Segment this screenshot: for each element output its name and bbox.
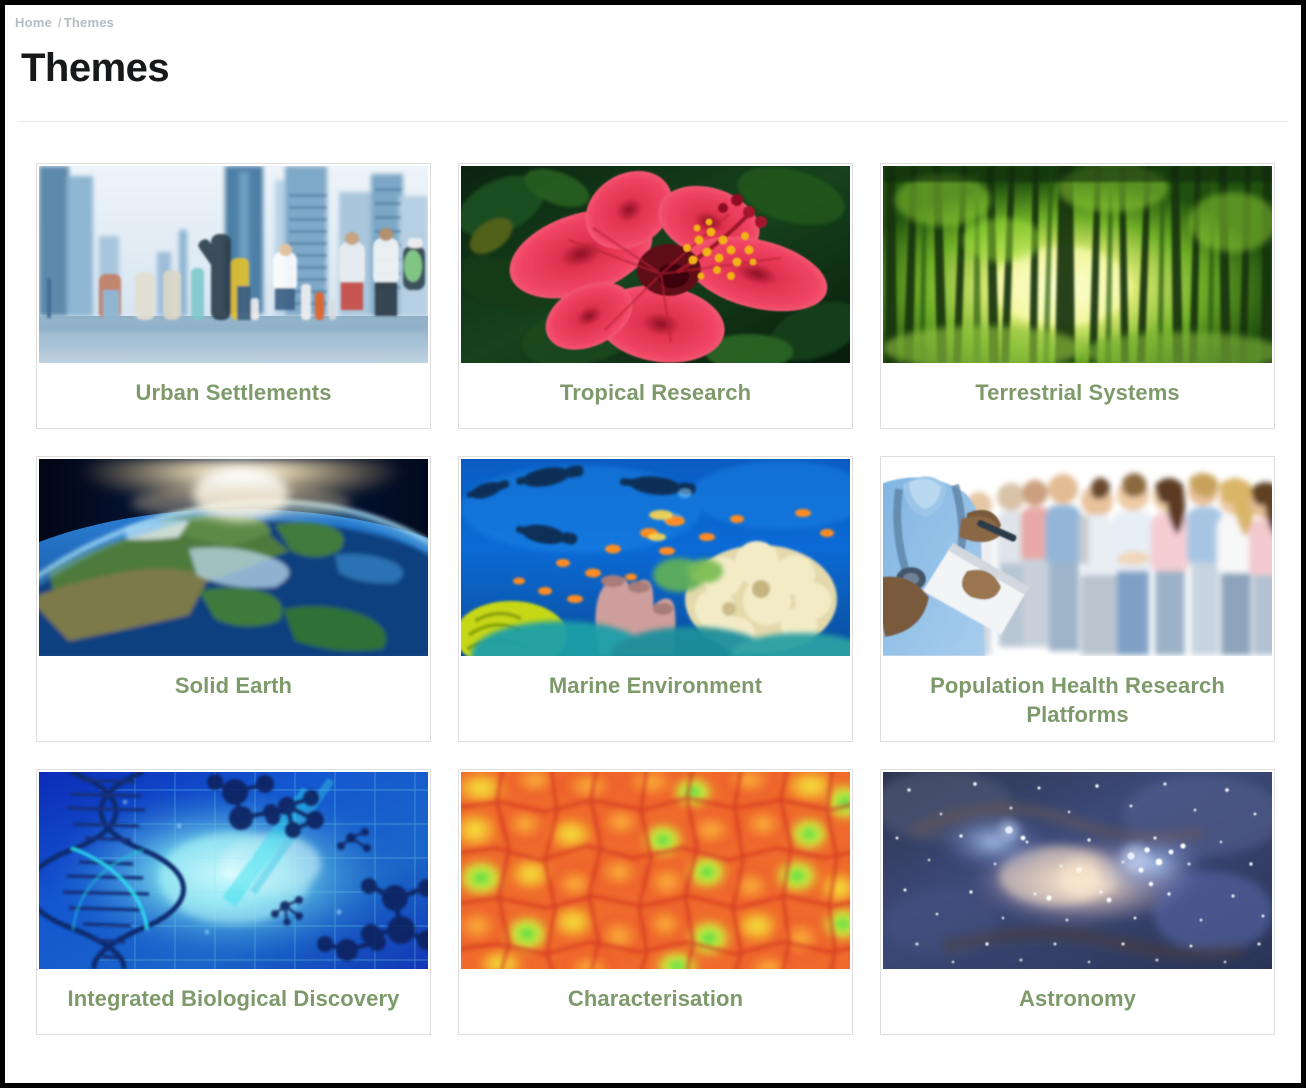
breadcrumb-separator: /: [52, 15, 64, 30]
theme-caption: Astronomy: [883, 969, 1272, 1034]
theme-label: Tropical Research: [560, 378, 751, 407]
theme-caption: Integrated Biological Discovery: [39, 969, 428, 1034]
theme-caption: Tropical Research: [461, 363, 850, 428]
theme-label: Urban Settlements: [135, 378, 331, 407]
theme-caption: Terrestrial Systems: [883, 363, 1272, 428]
theme-card-astronomy[interactable]: Astronomy: [880, 769, 1275, 1035]
theme-label: Integrated Biological Discovery: [68, 984, 400, 1013]
theme-card-integrated-biological-discovery[interactable]: Integrated Biological Discovery: [36, 769, 431, 1035]
theme-label: Terrestrial Systems: [975, 378, 1180, 407]
breadcrumb-current-themes: Themes: [64, 15, 114, 30]
coral-reef-divers-image: [461, 459, 850, 656]
cellular-thermal-pattern-image: [461, 772, 850, 969]
theme-label: Population Health Research Platforms: [891, 671, 1264, 729]
themes-grid: Urban Settlements: [5, 122, 1301, 1035]
theme-card-characterisation[interactable]: Characterisation: [458, 769, 853, 1035]
browser-window-frame: Home/Themes Themes: [0, 0, 1306, 1088]
theme-card-tropical-research[interactable]: Tropical Research: [458, 163, 853, 429]
red-hibiscus-flower-image: [461, 166, 850, 363]
theme-caption: Marine Environment: [461, 656, 850, 721]
theme-caption: Urban Settlements: [39, 363, 428, 428]
breadcrumb: Home/Themes: [5, 5, 1301, 32]
theme-label: Characterisation: [568, 984, 743, 1013]
theme-card-terrestrial-systems[interactable]: Terrestrial Systems: [880, 163, 1275, 429]
nebula-star-field-image: [883, 772, 1272, 969]
theme-card-marine-environment[interactable]: Marine Environment: [458, 456, 853, 742]
page-title: Themes: [5, 32, 1301, 92]
theme-label: Solid Earth: [175, 671, 292, 700]
theme-card-urban-settlements[interactable]: Urban Settlements: [36, 163, 431, 429]
theme-card-population-health-research-platforms[interactable]: Population Health Research Platforms: [880, 456, 1275, 742]
themes-page: Home/Themes Themes: [5, 5, 1301, 1083]
earth-from-space-sunrise-image: [39, 459, 428, 656]
dna-helix-molecules-image: [39, 772, 428, 969]
nurse-with-clipboard-group-image: [883, 459, 1272, 656]
breadcrumb-link-home[interactable]: Home: [15, 15, 52, 30]
theme-label: Marine Environment: [549, 671, 762, 700]
theme-caption: Characterisation: [461, 969, 850, 1034]
theme-caption: Population Health Research Platforms: [883, 656, 1272, 741]
theme-caption: Solid Earth: [39, 656, 428, 721]
theme-card-solid-earth[interactable]: Solid Earth: [36, 456, 431, 742]
urban-crowd-skyscrapers-image: [39, 166, 428, 363]
sunlit-green-forest-image: [883, 166, 1272, 363]
theme-label: Astronomy: [1019, 984, 1136, 1013]
